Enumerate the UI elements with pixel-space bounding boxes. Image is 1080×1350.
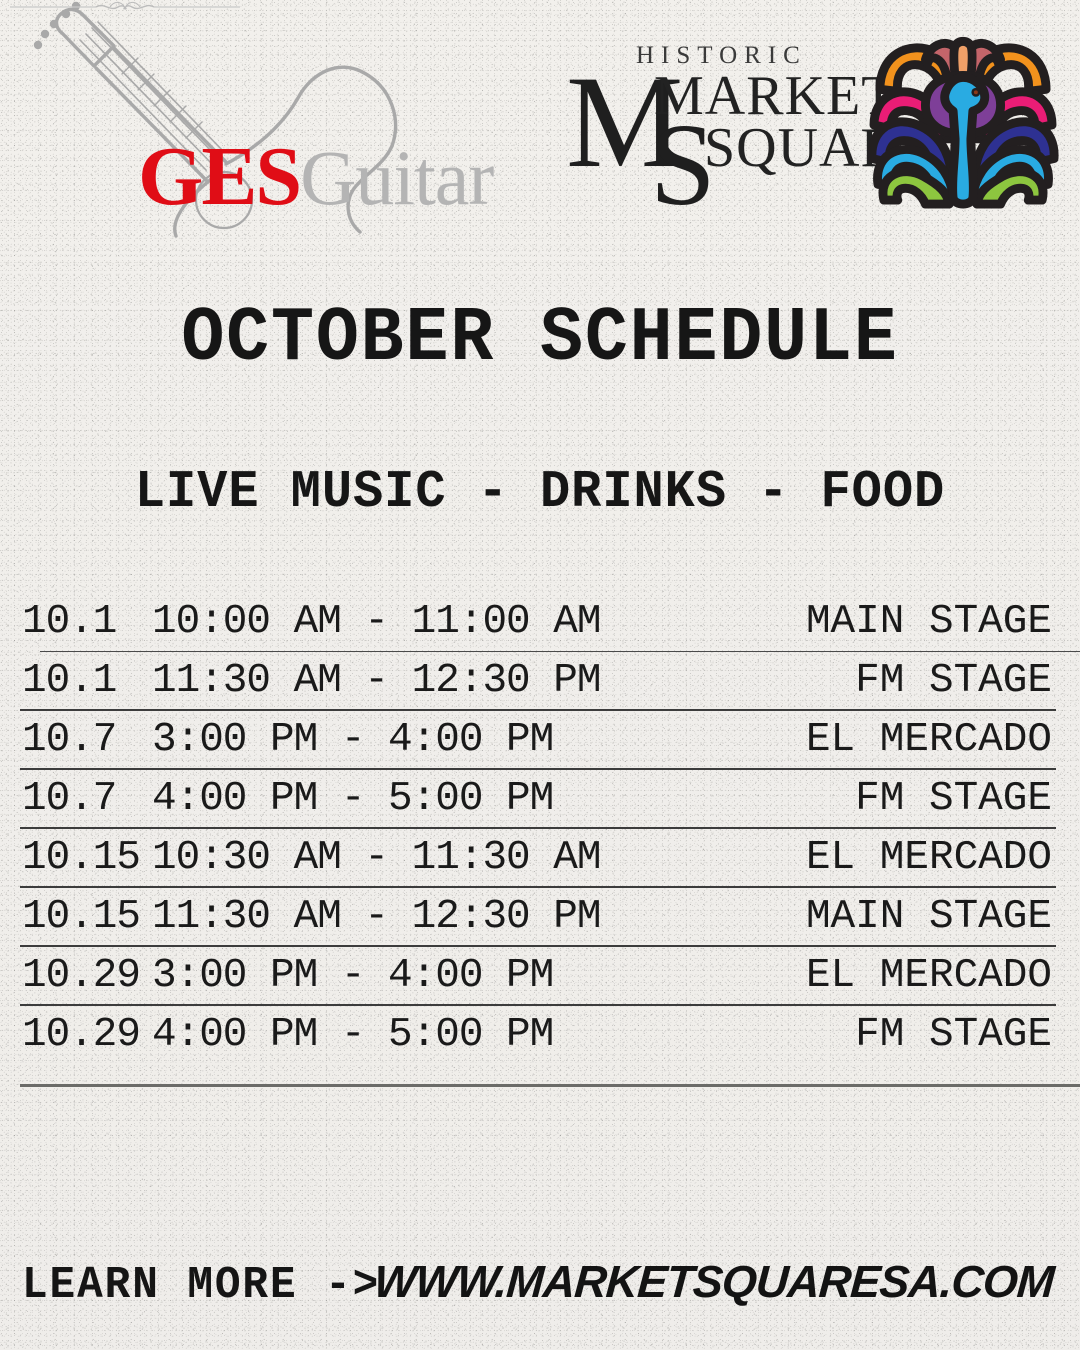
schedule-row: 10.73:00 PM - 4:00 PMEL MERCADO (0, 710, 1080, 769)
ges-guitar-logo: GESGuitar (10, 0, 480, 245)
schedule-venue: FM STAGE (672, 776, 1080, 822)
schedule-venue: EL MERCADO (672, 717, 1080, 763)
schedule-date: 10.29 (0, 953, 152, 999)
schedule-venue: FM STAGE (672, 1012, 1080, 1058)
schedule-time: 4:00 PM - 5:00 PM (152, 776, 672, 822)
schedule-row: 10.293:00 PM - 4:00 PMEL MERCADO (0, 946, 1080, 1005)
schedule-row: 10.74:00 PM - 5:00 PMFM STAGE (0, 769, 1080, 828)
schedule-row: 10.294:00 PM - 5:00 PMFM STAGE (0, 1005, 1080, 1064)
schedule-venue: EL MERCADO (672, 835, 1080, 881)
schedule-venue: FM STAGE (672, 658, 1080, 704)
schedule-row: 10.111:30 AM - 12:30 PMFM STAGE (0, 651, 1080, 710)
footer: LEARN MORE -> WWW.MARKETSQUARESA.COM (0, 1254, 1080, 1324)
schedule-time: 11:30 AM - 12:30 PM (152, 658, 672, 704)
schedule-row: 10.110:00 AM - 11:00 AMMAIN STAGE (0, 592, 1080, 651)
schedule-bottom-divider (20, 1084, 1080, 1087)
ornamental-flourish-icon (10, 0, 240, 16)
historic-market-square-logo: HISTORIC M MARKET S SQUARE (562, 18, 1062, 218)
schedule-time: 3:00 PM - 4:00 PM (152, 953, 672, 999)
schedule-time: 10:00 AM - 11:00 AM (152, 599, 672, 645)
schedule-row: 10.1510:30 AM - 11:30 AMEL MERCADO (0, 828, 1080, 887)
website-url[interactable]: WWW.MARKETSQUARESA.COM (373, 1256, 1056, 1308)
schedule-row: 10.1511:30 AM - 12:30 PMMAIN STAGE (0, 887, 1080, 946)
schedule-venue: EL MERCADO (672, 953, 1080, 999)
schedule-date: 10.1 (0, 599, 152, 645)
ges-guitar-wordmark: GESGuitar (138, 135, 493, 219)
schedule-date: 10.7 (0, 776, 152, 822)
schedule-date: 10.7 (0, 717, 152, 763)
schedule-venue: MAIN STAGE (672, 894, 1080, 940)
page-subtitle: LIVE MUSIC - DRINKS - FOOD (27, 462, 1053, 522)
ges-logo-primary-text: GES (138, 130, 300, 223)
schedule-date: 10.1 (0, 658, 152, 704)
schedule-time: 3:00 PM - 4:00 PM (152, 717, 672, 763)
schedule-date: 10.15 (0, 894, 152, 940)
page-title: OCTOBER SCHEDULE (38, 296, 1042, 383)
market-square-wordmark: HISTORIC M MARKET S SQUARE (562, 24, 882, 209)
schedule-time: 11:30 AM - 12:30 PM (152, 894, 672, 940)
schedule-time: 4:00 PM - 5:00 PM (152, 1012, 672, 1058)
schedule-time: 10:30 AM - 11:30 AM (152, 835, 672, 881)
schedule-date: 10.15 (0, 835, 152, 881)
schedule-venue: MAIN STAGE (672, 599, 1080, 645)
schedule-date: 10.29 (0, 1012, 152, 1058)
ges-logo-secondary-text: Guitar (300, 134, 493, 221)
schedule-table: 10.110:00 AM - 11:00 AMMAIN STAGE10.111:… (0, 592, 1080, 1087)
peacock-emblem-icon (864, 30, 1062, 210)
learn-more-label: LEARN MORE -> (22, 1260, 380, 1311)
